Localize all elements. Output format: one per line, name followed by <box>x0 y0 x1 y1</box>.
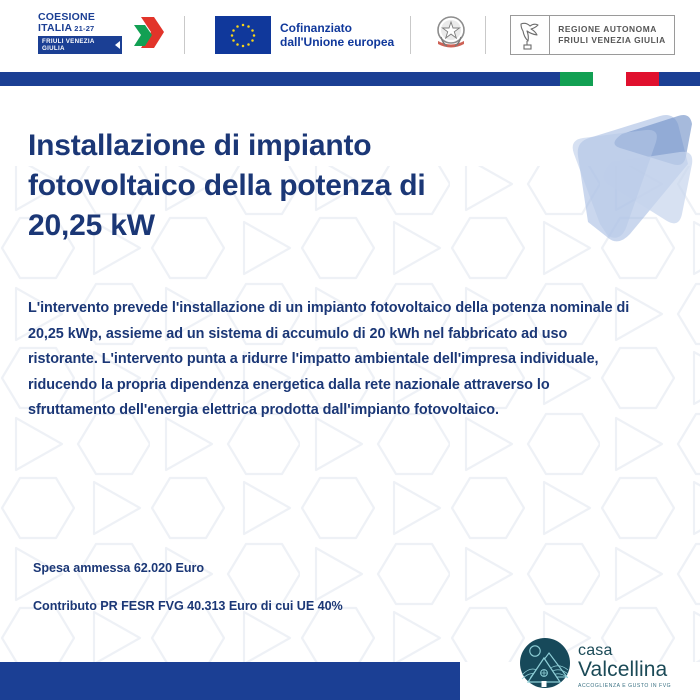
logo-bar: COESIONE ITALIA 21-27 FRIULI VENEZIA GIU… <box>0 0 700 70</box>
brand-text-block: casa Valcellina ACCOGLIENZA E GUSTO IN F… <box>578 643 671 689</box>
fvg-eagle-icon <box>511 19 549 51</box>
fvg-line1: REGIONE AUTONOMA <box>558 24 666 35</box>
casa-valcellina-logo-icon <box>519 637 571 694</box>
figures-block: Spesa ammessa 62.020 Euro Contributo PR … <box>33 561 343 613</box>
flag-stripe-red <box>626 72 659 86</box>
footer-blue-bar <box>0 662 460 700</box>
page-title: Installazione di impianto fotovoltaico d… <box>28 126 488 246</box>
divider-1 <box>184 16 185 54</box>
header-blue-band <box>0 72 700 86</box>
brand-tagline: ACCOGLIENZA E GUSTO IN FVG <box>578 683 671 689</box>
brand-line-valcellina: Valcellina <box>578 659 671 681</box>
coesione-line2: ITALIA 21-27 <box>38 23 94 34</box>
italian-republic-emblem-icon <box>433 13 469 58</box>
coesione-line2-label: ITALIA <box>38 23 72 34</box>
description-paragraph: L'intervento prevede l'installazione di … <box>28 296 638 424</box>
divider-2 <box>410 16 411 54</box>
flag-stripe-green <box>560 72 593 86</box>
brand-casa-valcellina: casa Valcellina ACCOGLIENZA E GUSTO IN F… <box>519 637 671 694</box>
logo-italian-republic <box>433 12 469 58</box>
fvg-text-block: REGIONE AUTONOMA FRIULI VENEZIA GIULIA <box>550 24 674 46</box>
coesione-arrow-mark-icon <box>128 15 168 56</box>
fvg-line2: FRIULI VENEZIA GIULIA <box>558 35 666 46</box>
divider-3 <box>485 16 486 54</box>
figure-contributo: Contributo PR FESR FVG 40.313 Euro di cu… <box>33 599 343 613</box>
logo-coesione-italia: COESIONE ITALIA 21-27 FRIULI VENEZIA GIU… <box>38 12 168 58</box>
triangle-play-decoration-icon <box>560 104 700 259</box>
eu-line2: dall'Unione europea <box>280 35 394 49</box>
eu-flag-icon <box>215 16 271 54</box>
flag-stripe-white <box>593 72 626 86</box>
logo-regione-fvg: REGIONE AUTONOMA FRIULI VENEZIA GIULIA <box>510 15 675 55</box>
eu-text-block: Cofinanziato dall'Unione europea <box>280 21 394 49</box>
coesione-years: 21-27 <box>74 23 94 34</box>
eu-line1: Cofinanziato <box>280 21 394 35</box>
coesione-badge: FRIULI VENEZIA GIULIA <box>38 36 122 54</box>
brand-line-casa: casa <box>578 643 671 659</box>
coesione-text-block: COESIONE ITALIA 21-27 FRIULI VENEZIA GIU… <box>38 12 122 54</box>
logo-eu-cofinanziato: Cofinanziato dall'Unione europea <box>215 12 394 58</box>
main-canvas: Installazione di impianto fotovoltaico d… <box>0 86 700 662</box>
figure-spesa-ammessa: Spesa ammessa 62.020 Euro <box>33 561 343 575</box>
